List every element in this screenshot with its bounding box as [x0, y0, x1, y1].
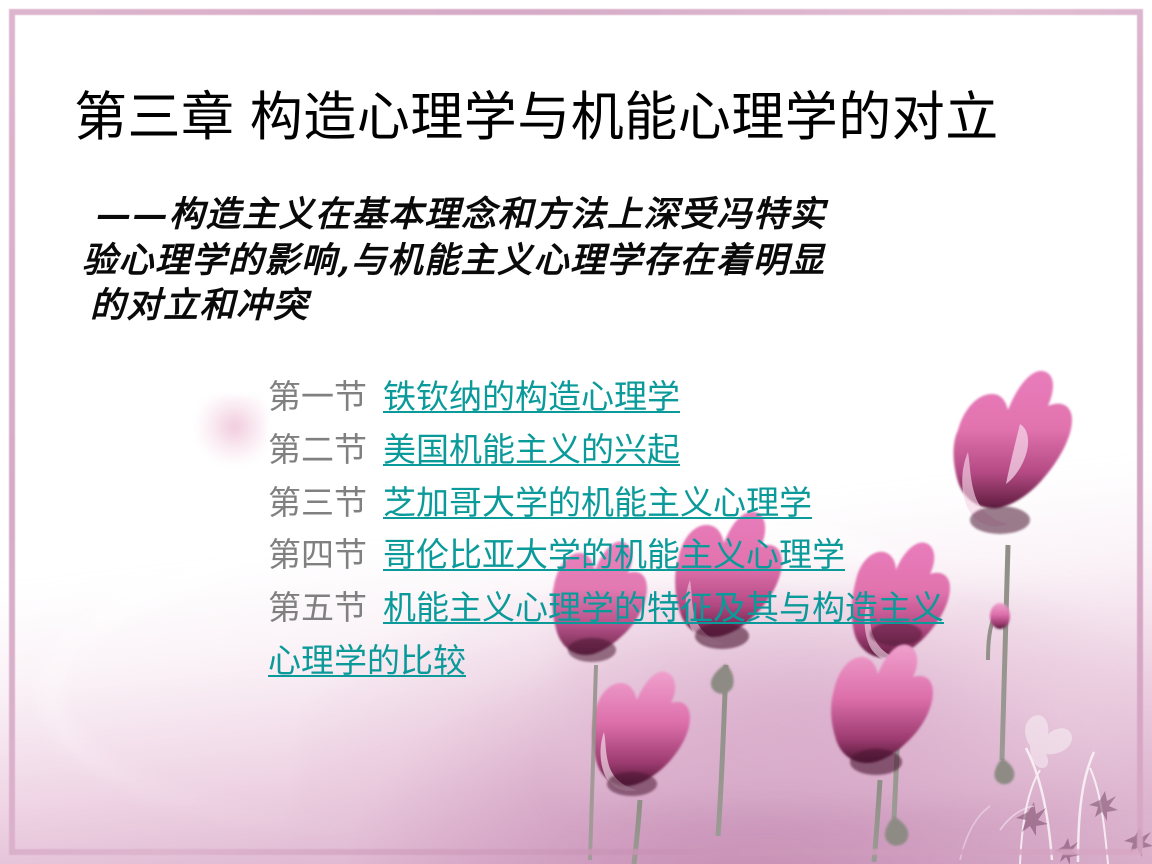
section-link-4[interactable]: 哥伦比亚大学的机能主义心理学 [383, 536, 845, 573]
toc-item-4: 第四节哥伦比亚大学的机能主义心理学 [252, 529, 968, 582]
section-number-2: 第二节 [268, 431, 367, 468]
section-number-1: 第一节 [268, 378, 367, 415]
section-number-3: 第三节 [268, 484, 367, 521]
subtitle-line-2: 验心理学的影响,与机能主义心理学存在着明显 [82, 238, 1036, 284]
toc-item-1: 第一节铁钦纳的构造心理学 [268, 371, 968, 424]
table-of-contents: 第一节铁钦纳的构造心理学 第二节美国机能主义的兴起 第三节芝加哥大学的机能主义心… [268, 371, 968, 688]
section-link-5[interactable]: 机能主义心理学的特征及其与构造主义心理学的比较 [268, 589, 944, 679]
section-link-1[interactable]: 铁钦纳的构造心理学 [383, 378, 680, 415]
subtitle-line-3: 的对立和冲突 [90, 283, 1036, 329]
section-number-4: 第四节 [268, 536, 367, 573]
toc-item-2: 第二节美国机能主义的兴起 [268, 424, 968, 477]
section-link-3[interactable]: 芝加哥大学的机能主义心理学 [383, 484, 812, 521]
toc-item-5: 第五节机能主义心理学的特征及其与构造主义心理学的比较 [252, 582, 968, 688]
slide-title: 第三章 构造心理学与机能心理学的对立 [74, 88, 1104, 147]
slide-subtitle: ——构造主义在基本理念和方法上深受冯特实 验心理学的影响,与机能主义心理学存在着… [96, 192, 1036, 329]
section-number-5: 第五节 [268, 589, 367, 626]
presentation-slide: 第三章 构造心理学与机能心理学的对立 ——构造主义在基本理念和方法上深受冯特实 … [0, 0, 1152, 864]
toc-item-3: 第三节芝加哥大学的机能主义心理学 [268, 477, 968, 530]
section-link-2[interactable]: 美国机能主义的兴起 [383, 431, 680, 468]
subtitle-line-1: ——构造主义在基本理念和方法上深受冯特实 [96, 192, 1036, 238]
slide-content: 第三章 构造心理学与机能心理学的对立 ——构造主义在基本理念和方法上深受冯特实 … [0, 0, 1152, 864]
